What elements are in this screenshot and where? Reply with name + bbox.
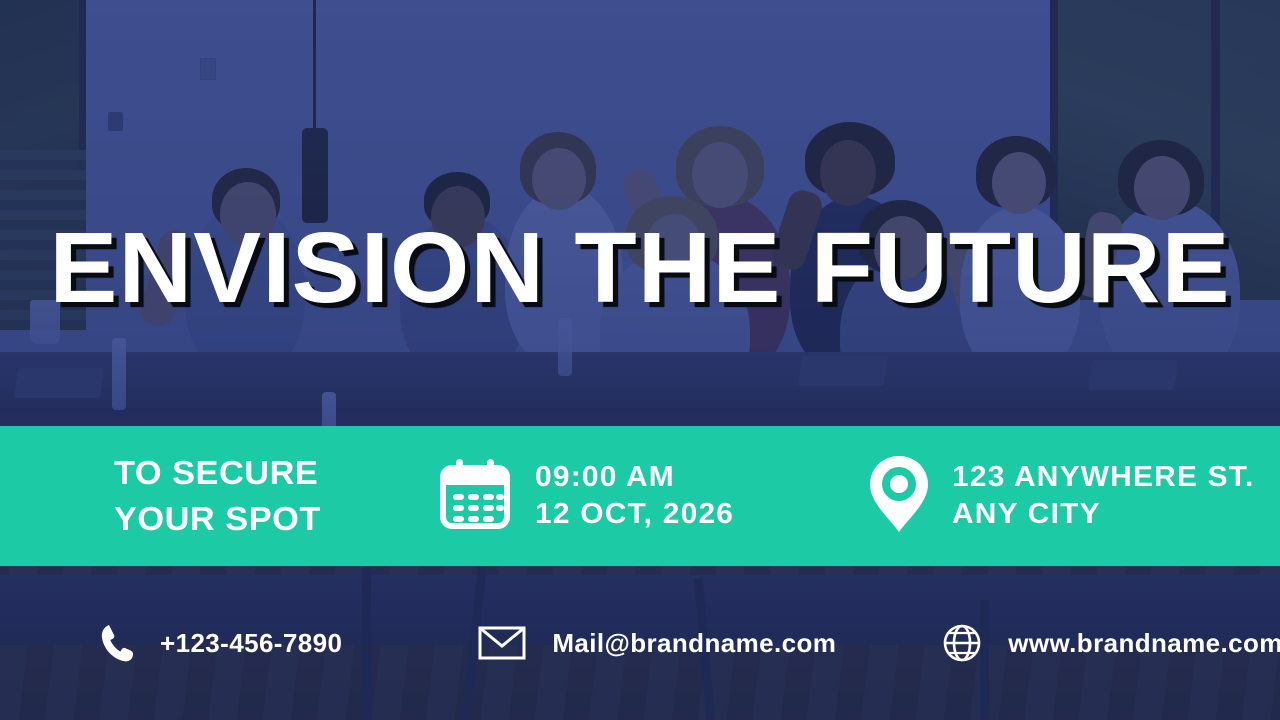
location-text: 123 ANYWHERE ST. ANY CITY [952, 459, 1255, 533]
headline-container: ENVISION THE FUTURE [0, 222, 1280, 314]
phone-number: +123-456-7890 [160, 628, 342, 659]
location-block: 123 ANYWHERE ST. ANY CITY [868, 454, 1246, 539]
event-info-band: TO SECURE YOUR SPOT [0, 426, 1280, 566]
contact-phone[interactable]: +123-456-7890 [100, 623, 342, 663]
date-time-block: 09:00 AM 12 OCT, 2026 [437, 456, 728, 537]
secure-spot-block: TO SECURE YOUR SPOT [114, 450, 313, 542]
email-address: Mail@brandname.com [552, 628, 836, 659]
phone-icon [100, 623, 134, 663]
page-title: ENVISION THE FUTURE [49, 222, 1230, 314]
website-url: www.brandname.com [1008, 628, 1280, 659]
secure-spot-label: TO SECURE YOUR SPOT [114, 450, 321, 542]
calendar-icon [437, 456, 513, 537]
date-time-text: 09:00 AM 12 OCT, 2026 [535, 459, 734, 533]
envelope-icon [478, 626, 526, 660]
globe-icon [942, 623, 982, 663]
contact-footer: +123-456-7890 Mail@brandname.com [0, 566, 1280, 720]
location-pin-icon [868, 454, 930, 539]
event-poster: ENVISION THE FUTURE TO SECURE YOUR SPOT [0, 0, 1280, 720]
contact-website[interactable]: www.brandname.com [942, 623, 1280, 663]
contact-email[interactable]: Mail@brandname.com [478, 626, 836, 660]
